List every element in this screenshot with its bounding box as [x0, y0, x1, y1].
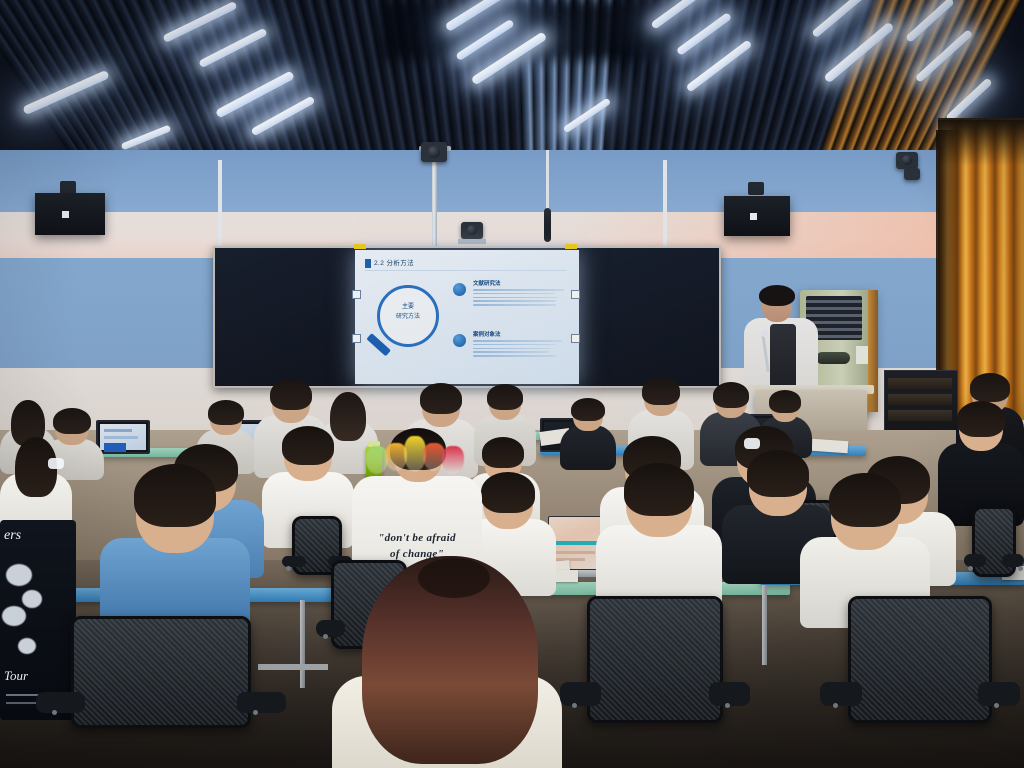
chair-foreground-center[interactable]: [560, 596, 750, 768]
air-conditioner-label: [856, 346, 868, 364]
chair-armrest-left[interactable]: [560, 682, 601, 706]
audience-hair: [571, 398, 604, 421]
foreground-person-long-hair: [322, 556, 572, 768]
slide-text-line: [473, 293, 555, 295]
graphic-tee-artwork: [366, 440, 462, 474]
screen-marker-left: [352, 290, 361, 299]
slide-text-line: [473, 304, 556, 306]
ceiling-camera-right: [896, 152, 918, 169]
conduit-pipe: [218, 160, 222, 248]
audience-hair: [769, 390, 801, 413]
audience-hair: [713, 382, 749, 408]
slide-text-line: [473, 340, 562, 342]
chair-armrest-left[interactable]: [820, 682, 862, 706]
chair-bolt: [572, 703, 577, 708]
chair-bolt: [253, 710, 258, 715]
chair-bolt: [52, 710, 57, 715]
magnifier-label-line2: 研究方法: [380, 313, 436, 322]
magnifier-graphic: 主要 研究方法: [377, 285, 439, 347]
floral-shirt-top-text: ers: [4, 528, 21, 544]
ceiling-camera-top: [421, 142, 447, 162]
slide-title-rule: [365, 270, 567, 271]
screen-marker-right: [571, 290, 580, 299]
bullet-body-1: [473, 289, 567, 308]
chair-mesh-back[interactable]: [587, 596, 724, 723]
chair-bolt: [1018, 566, 1023, 571]
classroom-photo: 2.2 分析方法 主要 研究方法 文献研究法 案例对象法: [0, 0, 1024, 768]
ceiling-void: [380, 0, 680, 60]
blackboard-panel-left: [215, 248, 355, 386]
presenter-hair: [759, 285, 795, 306]
board-and-screen: 2.2 分析方法 主要 研究方法 文献研究法 案例对象法: [213, 246, 721, 388]
rack-slot: [888, 378, 952, 389]
chair-bolt: [725, 703, 730, 708]
chair-armrest-left[interactable]: [282, 556, 306, 567]
camera-base-plate: [458, 239, 486, 244]
conduit-pipe-right: [663, 160, 667, 246]
slide-text-line: [473, 344, 556, 346]
wall-band-upper-blue: [0, 150, 1024, 212]
bullet-body-2: [473, 340, 567, 359]
face-mask: [48, 458, 64, 469]
tee-graphic-blob: [442, 446, 464, 474]
audience-hair: [270, 379, 312, 410]
screen-marker-top-left: [354, 244, 366, 249]
hair-crown-shadow: [418, 558, 490, 598]
chair-bolt: [994, 703, 999, 708]
audience-hair: [829, 473, 901, 527]
chair-mesh-back[interactable]: [848, 596, 992, 723]
graphic-tee-line1: "don't be afraid: [357, 532, 477, 544]
chair-bolt: [286, 566, 291, 571]
magnifier-label-line1: 主要: [380, 303, 436, 312]
podium-microphone-head: [761, 330, 768, 337]
chair-armrest-right[interactable]: [709, 682, 750, 706]
camera-pole-center: [432, 150, 437, 248]
audience-hair: [282, 426, 334, 465]
audience-hair: [53, 408, 90, 435]
air-conditioner-vent: [816, 352, 850, 364]
slide-title-accent-bar: [365, 259, 371, 268]
floral-shirt-script: Tour: [4, 668, 28, 684]
paper-sheet: [812, 439, 849, 453]
wall-speaker-right: [724, 196, 790, 236]
audience-hair: [208, 400, 243, 425]
chair-armrest-left[interactable]: [964, 554, 986, 567]
audience-hair: [642, 377, 680, 405]
bullet-icon-2: [453, 334, 466, 347]
monitor-left: [96, 420, 150, 454]
screen-marker-right-lower: [571, 334, 580, 343]
microphone-cable: [546, 150, 549, 212]
speaker-camera-right: [748, 182, 764, 195]
monitor-screen-content: [100, 424, 146, 450]
slide-text-line: [473, 355, 556, 357]
ceiling-camera-lower: [461, 222, 483, 239]
slide-title: 2.2 分析方法: [374, 257, 414, 267]
hanging-microphone: [544, 208, 551, 242]
chair-armrest-right[interactable]: [978, 682, 1020, 706]
chair-foreground-left[interactable]: [36, 616, 286, 768]
speaker-led-icon: [62, 211, 69, 218]
slide-text-line: [473, 289, 564, 291]
projection-screen: 2.2 分析方法 主要 研究方法 文献研究法 案例对象法: [355, 250, 579, 384]
desk-leg: [300, 600, 305, 688]
chair-bolt: [968, 566, 973, 571]
slide-text-line: [473, 348, 551, 350]
chair-foreground-right[interactable]: [820, 596, 1020, 768]
chair-far-right[interactable]: [964, 506, 1024, 602]
slatted-ceiling: [0, 0, 1024, 172]
camera-lens-icon: [902, 155, 912, 165]
bullet-heading-1: 文献研究法: [473, 279, 501, 287]
audience-hair: [957, 401, 1006, 437]
wall-speaker-left: [35, 193, 105, 235]
audience-hair: [420, 383, 462, 414]
audience-hair: [482, 437, 524, 468]
camera-lens-icon: [428, 146, 440, 158]
camera-lens-icon: [467, 225, 477, 235]
audience-hair: [624, 463, 694, 516]
chair-armrest-left[interactable]: [36, 692, 85, 713]
slide-text-line: [473, 351, 549, 353]
audience-hair: [970, 373, 1009, 401]
camera-arm-right: [904, 168, 920, 180]
chair-bolt: [833, 703, 838, 708]
bullet-icon-1: [453, 283, 466, 296]
speaker-led-icon: [750, 213, 757, 220]
audience-hair: [481, 472, 535, 512]
audience-hair: [487, 384, 523, 410]
blackboard-panel-right: [578, 248, 719, 386]
audience-front-blue: [100, 470, 250, 630]
screen-marker-left-lower: [352, 334, 361, 343]
slide-text-line: [473, 300, 556, 302]
slide-text-line: [473, 297, 558, 299]
chair-mesh-back[interactable]: [71, 616, 251, 728]
bullet-heading-2: 案例对象法: [473, 330, 501, 338]
screen-marker-top-right: [565, 244, 577, 249]
chair-armrest-right[interactable]: [237, 692, 286, 713]
audience-hair: [134, 464, 216, 527]
face-mask: [744, 438, 760, 449]
